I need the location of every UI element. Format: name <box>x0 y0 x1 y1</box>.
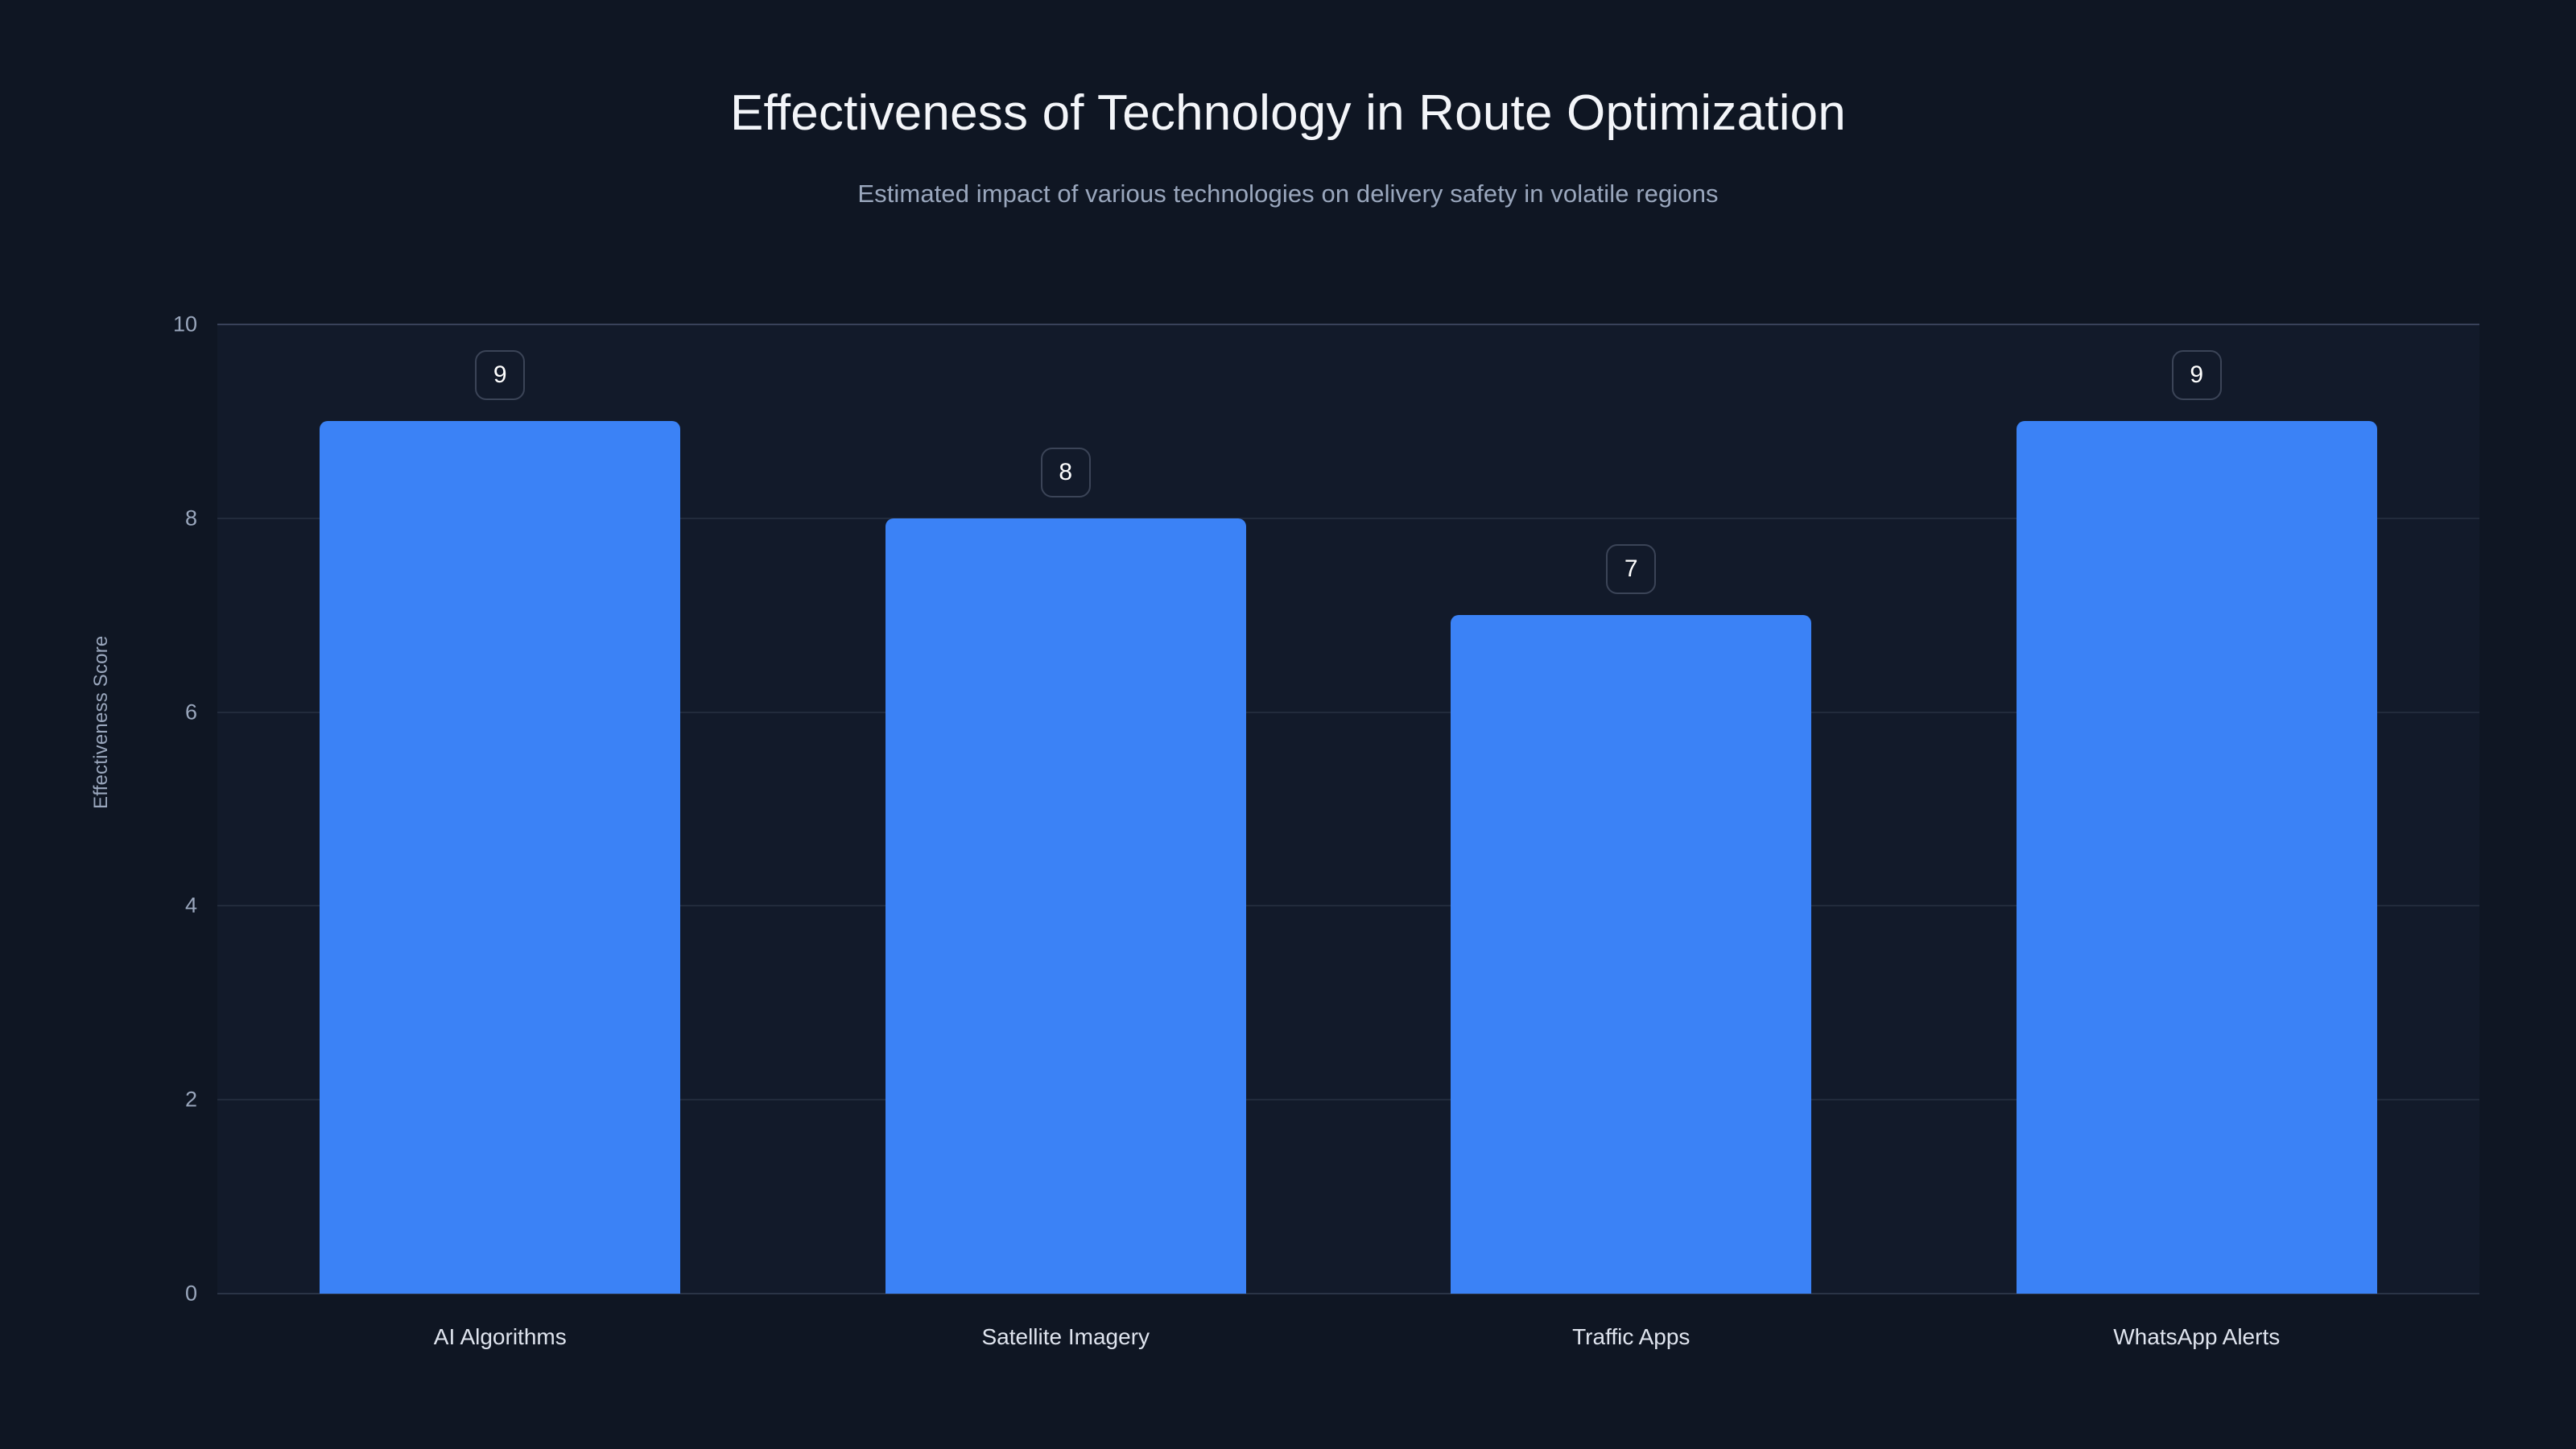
bar[interactable] <box>320 421 680 1294</box>
x-axis-tick-label: Satellite Imagery <box>981 1324 1150 1350</box>
bar[interactable] <box>2017 421 2377 1294</box>
x-axis-tick-label: Traffic Apps <box>1572 1324 1690 1350</box>
bar-value-label: 8 <box>1041 448 1091 497</box>
y-axis-tick-label: 0 <box>101 1282 197 1307</box>
x-axis-tick-label: AI Algorithms <box>434 1324 567 1350</box>
x-axis-tick-label: WhatsApp Alerts <box>2113 1324 2280 1350</box>
y-axis-tick-label: 2 <box>101 1088 197 1113</box>
y-axis-tick-label: 6 <box>101 700 197 724</box>
y-axis-tick-label: 4 <box>101 894 197 919</box>
bar-value-label: 7 <box>1606 544 1656 594</box>
bar-chart: Effectiveness Score 0246810 9879 AI Algo… <box>0 0 2576 1449</box>
bar[interactable] <box>885 518 1246 1294</box>
y-axis-tick-label: 10 <box>101 312 197 337</box>
gridline <box>217 324 2479 325</box>
bar-value-label: 9 <box>475 350 525 400</box>
bar[interactable] <box>1451 615 1811 1294</box>
y-axis-tick-label: 8 <box>101 506 197 530</box>
bar-value-label: 9 <box>2172 350 2222 400</box>
